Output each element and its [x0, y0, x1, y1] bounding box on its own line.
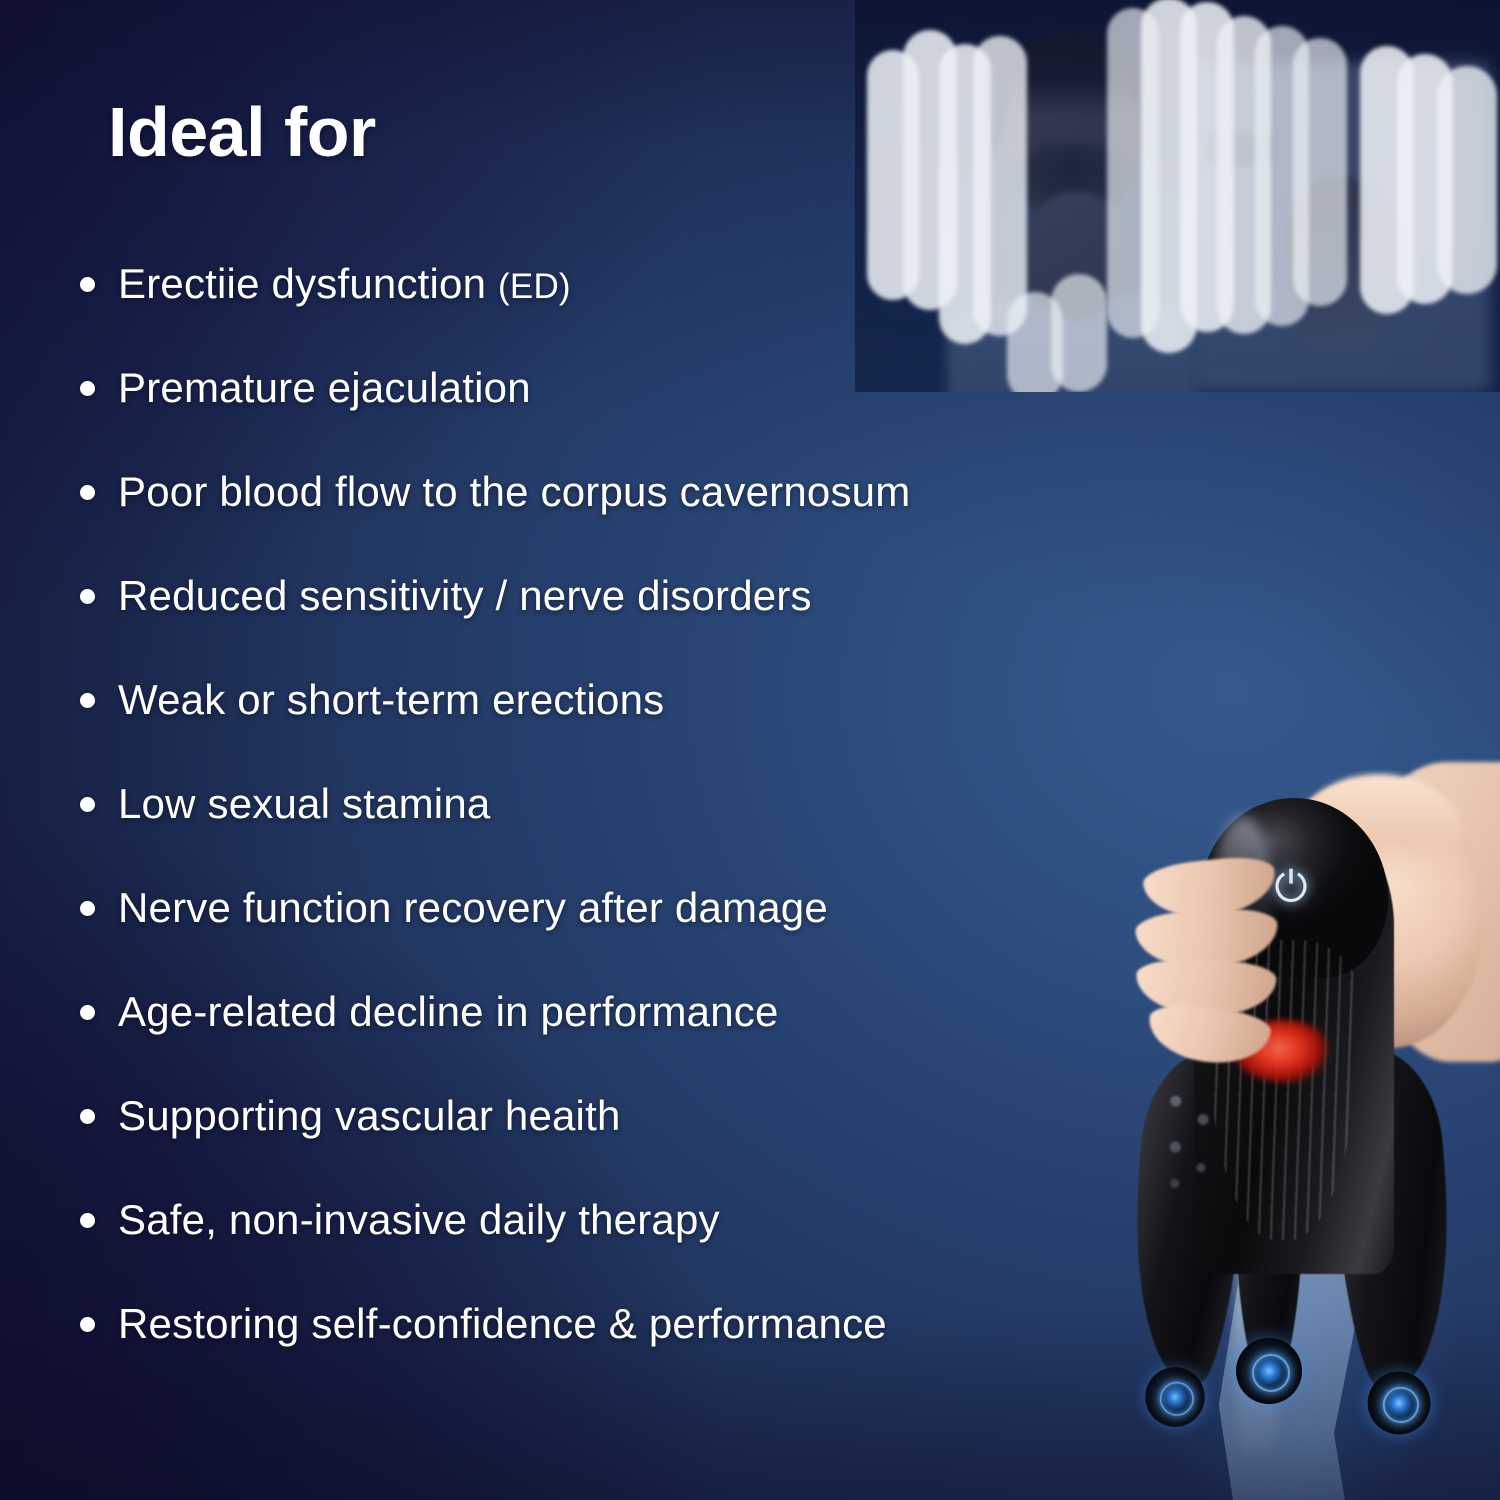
bullet-dot-icon — [80, 797, 95, 812]
ideal-for-poster: ⏻ Ideal for Erectiie dysfunction (ED) Pr… — [0, 0, 1500, 1500]
bullet-dot-icon — [80, 1109, 95, 1124]
bullet-dot-icon — [80, 1317, 95, 1332]
list-item: Age-related decline in performance — [70, 960, 1130, 1064]
bullet-dot-icon — [80, 693, 95, 708]
list-item-label: Reduced sensitivity / nerve disorders — [118, 572, 812, 620]
list-item-label: Supporting vascular heaith — [118, 1092, 621, 1140]
ideal-for-list: Erectiie dysfunction (ED) Premature ejac… — [70, 232, 1130, 1376]
bullet-dot-icon — [80, 1005, 95, 1020]
list-item: Premature ejaculation — [70, 336, 1130, 440]
paint-mask-stroke — [1437, 66, 1497, 294]
list-item-label: Safe, non-invasive daily therapy — [118, 1196, 720, 1244]
list-item: Nerve function recovery after damage — [70, 856, 1130, 960]
bullet-dot-icon — [80, 381, 95, 396]
list-item: Reduced sensitivity / nerve disorders — [70, 544, 1130, 648]
page-title: Ideal for — [108, 92, 376, 172]
list-item: Poor blood flow to the corpus cavernosum — [70, 440, 1130, 544]
bullet-dot-icon — [80, 901, 95, 916]
hand-holding-massager-device-photo: ⏻ — [1108, 752, 1500, 1500]
bullet-dot-icon — [80, 1213, 95, 1228]
device-tip-middle — [1236, 1338, 1302, 1404]
list-item-label: Premature ejaculation — [118, 364, 531, 412]
list-item: Safe, non-invasive daily therapy — [70, 1168, 1130, 1272]
list-item: Low sexual stamina — [70, 752, 1130, 856]
list-item-label: Restoring self-confidence & performance — [118, 1300, 887, 1348]
bullet-dot-icon — [80, 277, 95, 292]
list-item-label: Age-related decline in performance — [118, 988, 779, 1036]
list-item: Supporting vascular heaith — [70, 1064, 1130, 1168]
device-tip-left — [1145, 1367, 1204, 1426]
bullet-dot-icon — [80, 485, 95, 500]
list-item-label: Poor blood flow to the corpus cavernosum — [118, 468, 910, 516]
list-item-label: Weak or short-term erections — [118, 676, 664, 724]
list-item-label: Erectiie dysfunction (ED) — [118, 260, 571, 308]
list-item: Restoring self-confidence & performance — [70, 1272, 1130, 1376]
paint-mask-stroke — [1293, 38, 1347, 306]
bullet-dot-icon — [80, 589, 95, 604]
list-item: Weak or short-term erections — [70, 648, 1130, 752]
device-tip-right — [1368, 1372, 1431, 1435]
list-item-label: Nerve function recovery after damage — [118, 884, 828, 932]
list-item: Erectiie dysfunction (ED) — [70, 232, 1130, 336]
list-item-label: Low sexual stamina — [118, 780, 490, 828]
